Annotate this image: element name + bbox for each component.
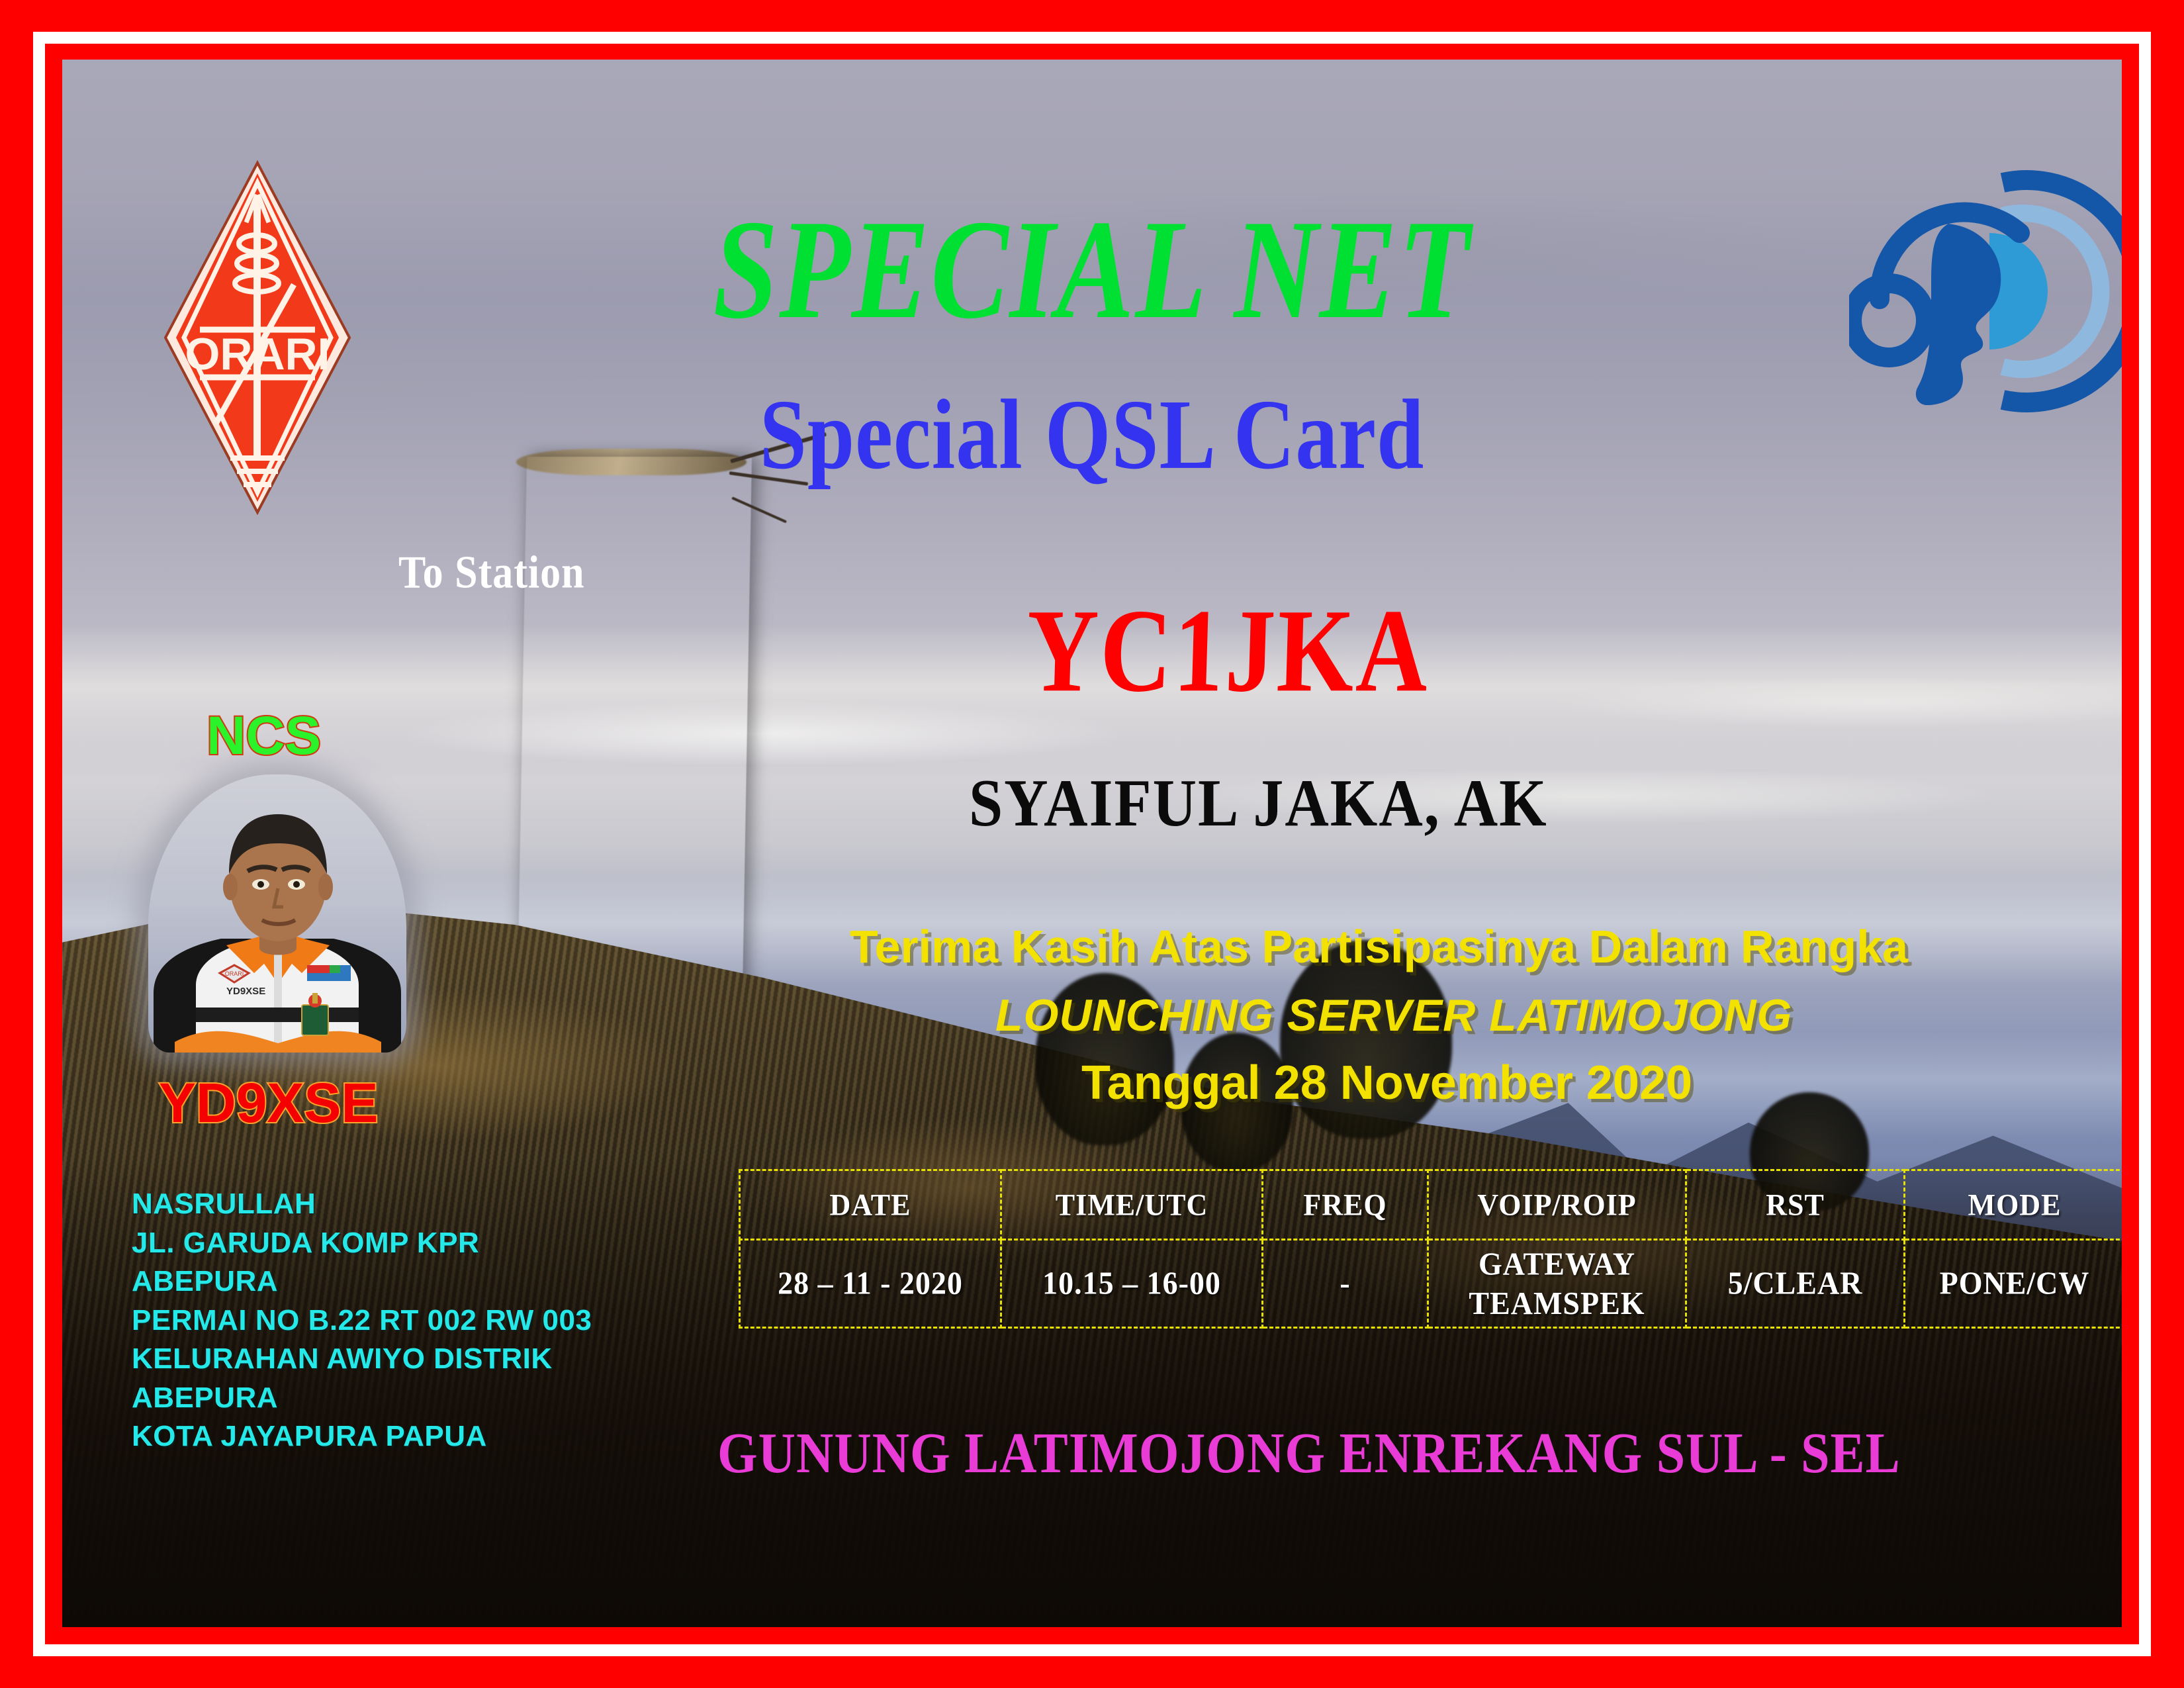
- event-date-line: Tanggal 28 November 2020: [1081, 1056, 1692, 1110]
- column-header-time: TIME/UTC: [1001, 1168, 1263, 1241]
- cell-time: 10.15 – 16-00: [1001, 1237, 1263, 1330]
- svg-text:ORARI: ORARI: [225, 970, 244, 977]
- column-header-voip-roip: VOIP/ROIP: [1428, 1168, 1686, 1241]
- address-line: NASRULLAH: [132, 1185, 707, 1224]
- uniform-callsign-text: YD9XSE: [226, 986, 265, 997]
- to-station-label: To Station: [398, 547, 585, 600]
- qso-log-table: DATE TIME/UTC FREQ VOIP/ROIP RST MODE 28…: [739, 1169, 2122, 1329]
- cell-voip-roip-line1: GATEWAY: [1479, 1246, 1635, 1282]
- column-header-date: DATE: [740, 1168, 1001, 1241]
- address-line: ABEPURA: [132, 1379, 707, 1418]
- location-caption: GUNUNG LATIMOJONG ENREKANG SUL - SEL: [717, 1420, 1901, 1487]
- cell-mode: PONE/CW: [1905, 1237, 2122, 1330]
- address-line: JL. GARUDA KOMP KPR: [132, 1224, 707, 1263]
- column-header-mode: MODE: [1905, 1168, 2122, 1241]
- event-thanks-line: Terima Kasih Atas Partisipasinya Dalam R…: [850, 920, 1908, 973]
- card-photo-background: ORARI: [62, 60, 2122, 1627]
- operator-name: SYAIFUL JAKA, AK: [969, 765, 1548, 842]
- cell-date: 28 – 11 - 2020: [740, 1237, 1001, 1330]
- address-line: PERMAI NO B.22 RT 002 RW 003: [132, 1301, 707, 1340]
- card-white-border: ORARI: [33, 32, 2151, 1656]
- mailing-address: NASRULLAH JL. GARUDA KOMP KPR ABEPURA PE…: [132, 1185, 707, 1456]
- page-subtitle: Special QSL Card: [62, 377, 2122, 492]
- event-name-line: LOUNCHING SERVER LATIMOJONG: [995, 990, 1792, 1041]
- table-header-row: DATE TIME/UTC FREQ VOIP/ROIP RST MODE: [740, 1170, 2122, 1240]
- cell-voip-roip-line2: TEAMSPEK: [1469, 1285, 1645, 1321]
- cell-rst: 5/CLEAR: [1686, 1237, 1905, 1330]
- station-callsign: YC1JKA: [1024, 583, 1432, 719]
- page-title: SPECIAL NET: [62, 189, 2122, 352]
- qsl-card: ORARI: [0, 0, 2184, 1688]
- column-header-rst: RST: [1686, 1168, 1905, 1241]
- table-row: 28 – 11 - 2020 10.15 – 16-00 - GATEWAY T…: [740, 1240, 2122, 1328]
- address-line: KELURAHAN AWIYO DISTRIK: [132, 1340, 707, 1379]
- address-line: ABEPURA: [132, 1262, 707, 1301]
- operator-portrait-photo: ORARI YD9XSE: [148, 774, 406, 1053]
- cell-freq: -: [1263, 1237, 1428, 1330]
- ncs-label: NCS: [206, 705, 321, 767]
- address-line: KOTA JAYAPURA PAPUA: [132, 1417, 707, 1456]
- card-inner-red-border: ORARI: [45, 44, 2139, 1644]
- column-header-freq: FREQ: [1263, 1168, 1428, 1241]
- portrait-figure: ORARI YD9XSE: [148, 774, 406, 1053]
- cell-voip-roip: GATEWAY TEAMSPEK: [1428, 1237, 1686, 1330]
- ncs-callsign: YD9XSE: [159, 1071, 379, 1135]
